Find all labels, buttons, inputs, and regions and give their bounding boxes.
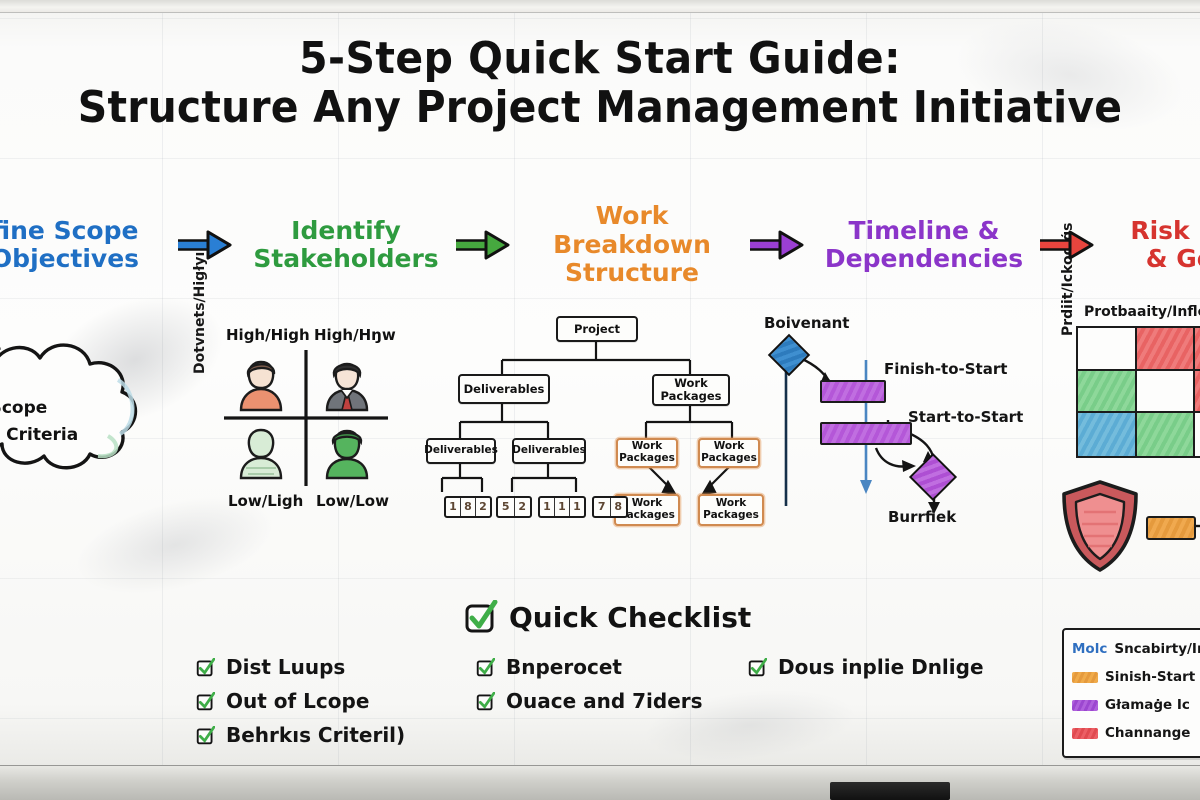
whiteboard: 5-Step Quick Start Guide: Structure Any … [0, 0, 1200, 800]
checklist-item-label: Dous inplie Dnlige [778, 655, 984, 679]
checklist-item[interactable]: Behrkıs Criteril) [196, 718, 405, 752]
matrix-label-low-high: Low/Ligh [228, 492, 303, 510]
legend-row[interactable]: Głamaġe Ic [1064, 691, 1200, 719]
risk-cell[interactable] [1195, 371, 1200, 414]
wbs-num: 1 [446, 498, 461, 516]
matrix-label-low-low: Low/Low [316, 492, 389, 510]
arrow-step-3-to-4 [746, 226, 812, 264]
wbs-num: 8 [461, 498, 476, 516]
checkbox-checked-icon[interactable] [196, 658, 215, 677]
smart-heading: SMART [0, 342, 114, 369]
checkbox-checked-icon[interactable] [476, 692, 495, 711]
risk-cell[interactable] [1137, 371, 1196, 414]
checklist-item[interactable]: Dist Luups [196, 650, 405, 684]
wbs-num: 1 [540, 498, 555, 516]
checklist-column-2: Bnperocet Ouace and 7iders [476, 650, 703, 718]
board-frame-bottom [0, 765, 1200, 800]
shield-icon [1054, 476, 1146, 576]
legend-marker: Molc [1072, 641, 1107, 657]
stakeholder-matrix-panel: Dotvnets/Higłyı High/High High/Hŋw Low/L… [196, 320, 396, 520]
wbs-num: 7 [594, 498, 611, 516]
risk-cell[interactable] [1195, 413, 1200, 456]
checklist-column-3: Dous inplie Dnlige [748, 650, 984, 684]
scope-line-goal: Goal [0, 369, 114, 396]
step-header-risk-management-governance[interactable]: Risk Manage & Governa [1102, 217, 1200, 274]
risk-cell[interactable] [1137, 413, 1196, 456]
legend-label: Sncabirty/In [1114, 641, 1200, 657]
step-header-define-scope-objectives[interactable]: fine Scope Objectives [0, 217, 174, 274]
step-header-identify-stakeholders[interactable]: Identify Stakeholders [240, 217, 452, 274]
legend-panel: Molc Sncabirty/In Sinish-Start Głamaġe I… [1062, 628, 1200, 758]
stakeholder-avatar-high-high [234, 356, 288, 412]
legend-swatch-purple [1072, 700, 1098, 711]
checkbox-checked-icon[interactable] [196, 692, 215, 711]
checklist-item[interactable]: Bnperocet [476, 650, 703, 684]
wbs-node-deliverables[interactable]: Deliverables [458, 374, 550, 404]
legend-label: Channange [1105, 725, 1190, 741]
wbs-num: 2 [515, 498, 531, 516]
stakeholder-avatar-low-low [320, 424, 374, 480]
legend-label: Sinish-Start [1105, 669, 1195, 685]
checkbox-checked-icon[interactable] [748, 658, 767, 677]
wbs-num: 2 [476, 498, 490, 516]
matrix-label-high-high: High/High [226, 326, 310, 344]
title-line-1: 5-Step Quick Start Guide: [42, 36, 1158, 83]
checklist-item-label: Ouace and 7iders [506, 689, 703, 713]
wbs-numbox-1: 1 8 2 [444, 496, 492, 518]
risk-matrix-panel: Protbaaity/Inflcme Prdiit/Ickooiģs [1058, 300, 1200, 490]
wbs-numbox-3: 1 1 1 [538, 496, 586, 518]
arrow-step-1-to-2 [174, 226, 240, 264]
governance-panel [1050, 474, 1200, 578]
wbs-node-deliverables-b[interactable]: Deliverables [512, 438, 586, 464]
risk-x-axis-label: Protbaaity/Inflcme [1084, 304, 1200, 320]
checklist-item[interactable]: Ouace and 7iders [476, 684, 703, 718]
wbs-node-work-packages-d[interactable]: Work Packages [698, 494, 764, 526]
wbs-num: 5 [498, 498, 515, 516]
timeline-task-bar-1[interactable] [820, 380, 886, 403]
wbs-num: 1 [555, 498, 570, 516]
arrow-step-4-to-5 [1036, 226, 1102, 264]
step-header-work-breakdown-structure[interactable]: Work Breakdown Structure [518, 202, 746, 288]
risk-cell[interactable] [1078, 371, 1137, 414]
legend-row[interactable]: Channange [1064, 719, 1200, 747]
checkbox-checked-icon[interactable] [476, 658, 495, 677]
legend-row[interactable]: Sinish-Start [1064, 663, 1200, 691]
checklist-item-label: Dist Luups [226, 655, 345, 679]
legend-swatch-red [1072, 728, 1098, 739]
title-line-2: Structure Any Project Management Initiat… [42, 83, 1158, 132]
checklist-column-1: Dist Luups Out of Lcope Behrkıs Criteril… [196, 650, 405, 752]
step-header-row: fine Scope Objectives Identify Stakehold… [0, 206, 1200, 284]
governance-box-orange[interactable] [1146, 516, 1196, 540]
checklist-item-label: Out of Lcope [226, 689, 369, 713]
checklist-item[interactable]: Dous inplie Dnlige [748, 650, 984, 684]
step-header-timeline-dependencies[interactable]: Timeline & Dependencies [812, 217, 1036, 274]
wbs-num: 1 [570, 498, 584, 516]
checklist-item-label: Bnperocet [506, 655, 622, 679]
scope-cloud-text: SMART Goal Out of Scope Success Criteria [0, 342, 114, 448]
wbs-numbox-2: 5 2 [496, 496, 532, 518]
checklist-item[interactable]: Out of Lcope [196, 684, 405, 718]
page-title: 5-Step Quick Start Guide: Structure Any … [0, 36, 1200, 132]
scope-cloud-panel: SMART Goal Out of Scope Success Criteria [0, 316, 166, 484]
scope-line-success-criteria: Success Criteria [0, 422, 114, 449]
checklist-item-label: Behrkıs Criteril) [226, 723, 405, 747]
legend-row[interactable]: Molc Sncabirty/In [1064, 630, 1200, 663]
legend-swatch-orange [1072, 672, 1098, 683]
wbs-panel: Project Deliverables Work Packages Deliv… [440, 312, 752, 550]
scope-line-out-of-scope: Out of Scope [0, 395, 114, 422]
risk-grid [1076, 326, 1200, 458]
matrix-label-high-low: High/Hŋw [314, 326, 396, 344]
risk-cell[interactable] [1137, 328, 1196, 371]
stakeholder-avatar-low-high [234, 424, 288, 480]
arrow-step-2-to-3 [452, 226, 518, 264]
wbs-num: 8 [611, 498, 627, 516]
wbs-node-root[interactable]: Project [556, 316, 638, 342]
board-frame-top [0, 0, 1200, 13]
wbs-node-work-packages-a[interactable]: Work Packages [616, 438, 678, 468]
wbs-node-work-packages[interactable]: Work Packages [652, 374, 730, 406]
quick-checklist-label: Quick Checklist [509, 601, 751, 634]
checkbox-checked-icon[interactable] [196, 726, 215, 745]
timeline-panel: Boivenant Finish-to-Start Start-to-Start… [756, 308, 1024, 550]
wbs-numbox-4: 7 8 [592, 496, 628, 518]
wbs-node-deliverables-a[interactable]: Deliverables [426, 438, 496, 464]
risk-cell[interactable] [1078, 413, 1137, 456]
wbs-node-work-packages-b[interactable]: Work Packages [698, 438, 760, 468]
stakeholder-avatar-high-low [320, 356, 374, 412]
checkbox-checked-icon [464, 600, 498, 634]
timeline-task-bar-2[interactable] [820, 422, 912, 445]
legend-label: Głamaġe Ic [1105, 697, 1190, 713]
quick-checklist-title: Quick Checklist [464, 600, 751, 634]
risk-cell[interactable] [1195, 328, 1200, 371]
risk-cell[interactable] [1078, 328, 1137, 371]
marker-tray [830, 782, 950, 800]
